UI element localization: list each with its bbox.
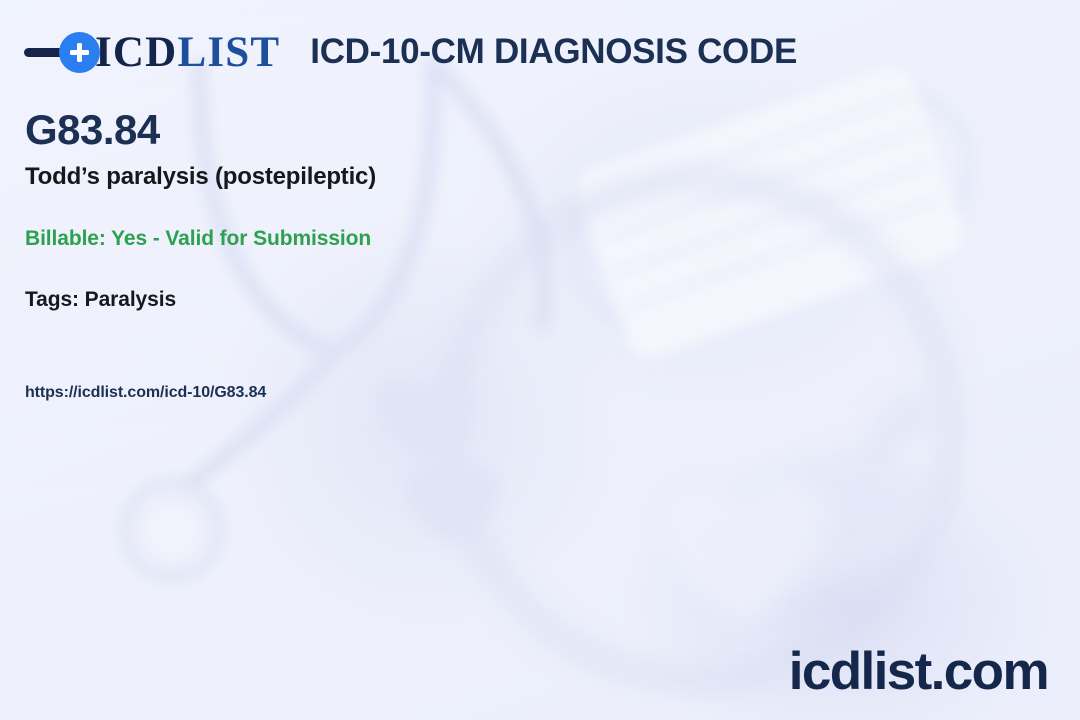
source-url[interactable]: https://icdlist.com/icd-10/G83.84 — [25, 384, 376, 402]
mask-shape — [543, 47, 999, 375]
tags-label: Tags: Paralysis — [25, 288, 376, 312]
page-header: ICDLIST ICD-10-CM DIAGNOSIS CODE — [24, 22, 797, 82]
diagnosis-description: Todd’s paralysis (postepileptic) — [25, 163, 376, 191]
diagnosis-code: G83.84 — [25, 108, 376, 152]
billable-status: Billable: Yes - Valid for Submission — [25, 227, 376, 251]
hand-heart-shape — [658, 392, 946, 630]
icdlist-logo[interactable]: ICDLIST — [24, 22, 280, 82]
icd-code-card: ICDLIST ICD-10-CM DIAGNOSIS CODE G83.84 … — [0, 0, 1080, 720]
logo-text-list: LIST — [177, 29, 280, 76]
code-details: G83.84 Todd’s paralysis (postepileptic) … — [25, 108, 376, 402]
logo-text-icd: ICD — [95, 29, 177, 76]
plus-icon — [59, 32, 100, 73]
page-title: ICD-10-CM DIAGNOSIS CODE — [310, 32, 797, 72]
site-watermark: icdlist.com — [789, 645, 1048, 698]
